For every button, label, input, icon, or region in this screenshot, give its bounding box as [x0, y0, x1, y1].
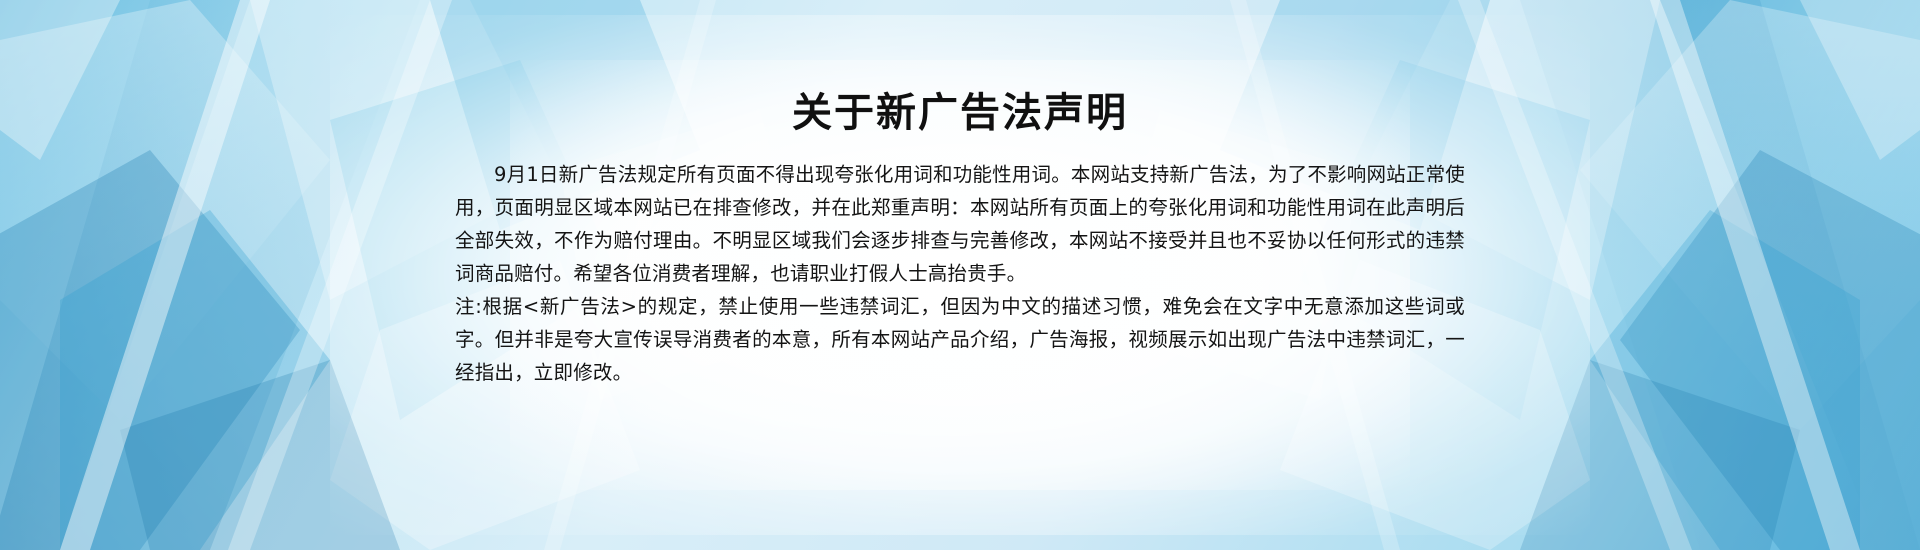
advertising-law-statement-banner: 关于新广告法声明 9月1日新广告法规定所有页面不得出现夸张化用词和功能性用词。本… — [0, 0, 1920, 550]
statement-body: 9月1日新广告法规定所有页面不得出现夸张化用词和功能性用词。本网站支持新广告法，… — [455, 158, 1465, 389]
page-title: 关于新广告法声明 — [455, 88, 1465, 138]
statement-paragraph-note: 注:根据<新广告法>的规定，禁止使用一些违禁词汇，但因为中文的描述习惯，难免会在… — [455, 290, 1465, 389]
statement-content: 关于新广告法声明 9月1日新广告法规定所有页面不得出现夸张化用词和功能性用词。本… — [455, 0, 1465, 550]
statement-paragraph-main: 9月1日新广告法规定所有页面不得出现夸张化用词和功能性用词。本网站支持新广告法，… — [455, 158, 1465, 290]
